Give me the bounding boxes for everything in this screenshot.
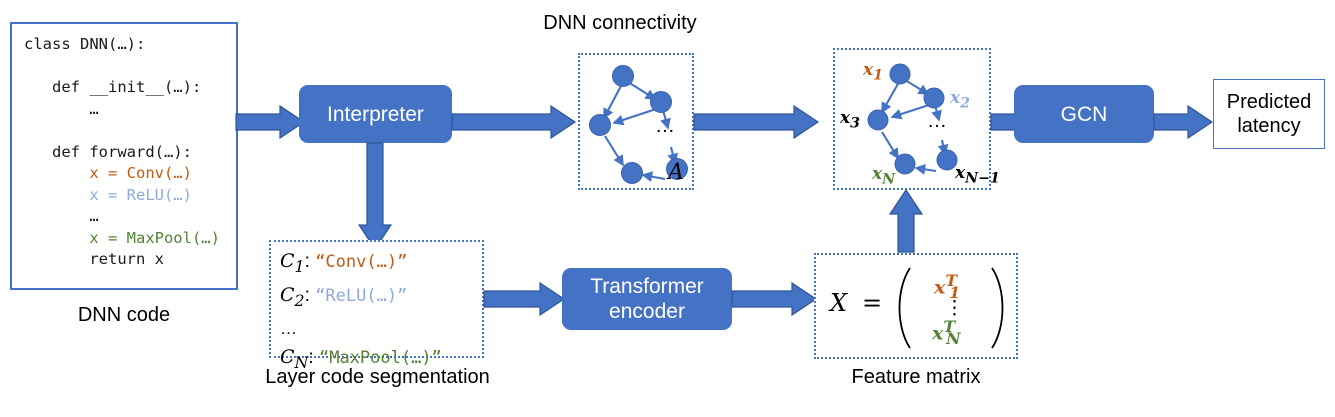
predicted-latency-line1: Predicted <box>1227 90 1312 114</box>
feature-label-x3: x3 <box>840 108 860 131</box>
arrow-segmentation-to-transformer <box>484 281 568 317</box>
connectivity-ellipsis: … <box>655 115 676 138</box>
code-line-1: class DNN(…): <box>24 35 145 53</box>
segmentation-rows: C1: “Conv(…)” C2: “ReLU(…)” … CN: “MaxPo… <box>280 247 442 376</box>
code-line-conv: x = Conv(…) <box>24 164 192 182</box>
code-line-4: def forward(…): <box>24 143 192 161</box>
arrow-gcn-to-prediction <box>1154 104 1214 140</box>
segmentation-value-n: “MaxPool(…)” <box>319 348 442 368</box>
segmentation-key-n: CN <box>280 346 308 368</box>
feature-node-x1 <box>890 64 910 84</box>
feature-label-x1: x1 <box>863 60 883 83</box>
predicted-latency-box: Predicted latency <box>1213 79 1325 149</box>
arrow-interpreter-to-segmentation <box>357 143 393 253</box>
arrow-transformer-to-featurematrix <box>732 281 820 317</box>
arrow-featurematrix-to-featuregraph <box>888 190 924 254</box>
code-line-return: return x <box>24 250 164 268</box>
feature-matrix-caption: Feature matrix <box>814 366 1018 389</box>
segmentation-box: C1: “Conv(…)” C2: “ReLU(…)” … CN: “MaxPo… <box>269 240 484 358</box>
predicted-latency-line2: latency <box>1237 114 1300 138</box>
dnn-code-text: class DNN(…): def __init__(…): … def for… <box>24 34 220 271</box>
diagram-canvas: class DNN(…): def __init__(…): … def for… <box>0 0 1335 417</box>
feature-matrix-symbol: X <box>830 289 847 317</box>
feature-node-xn <box>895 154 915 174</box>
code-line-2: def __init__(…): <box>24 78 201 96</box>
code-line-relu: x = ReLU(…) <box>24 186 192 204</box>
interpreter-box[interactable]: Interpreter <box>299 85 452 143</box>
transformer-label-line2: encoder <box>609 299 685 324</box>
transformer-encoder-box[interactable]: Transformer encoder <box>562 268 732 330</box>
feature-graph-ellipsis: … <box>927 110 948 133</box>
segmentation-row-ellipsis: … <box>280 315 442 343</box>
interpreter-label: Interpreter <box>327 102 424 127</box>
segmentation-key-1: C1 <box>280 250 305 272</box>
connectivity-title: DNN connectivity <box>470 12 770 35</box>
dnn-code-box: class DNN(…): def __init__(…): … def for… <box>10 22 238 290</box>
feature-node-x2 <box>924 88 944 108</box>
dnn-code-caption: DNN code <box>10 304 238 327</box>
feature-node-xn1 <box>937 150 957 170</box>
graph-node-3 <box>590 115 611 136</box>
feature-graph-box: x1 x2 x3 xN−1 xN … <box>833 48 991 190</box>
transformer-label-line1: Transformer <box>590 274 704 299</box>
segmentation-value-2: “ReLU(…)” <box>315 286 407 306</box>
connectivity-box: … A <box>578 53 694 190</box>
feature-matrix-box: X = xT1 ⋮ xTN <box>814 253 1018 359</box>
segmentation-key-2: C2 <box>280 284 305 306</box>
feature-label-x2: x2 <box>950 88 970 111</box>
feature-matrix-row-bottom: xTN <box>932 317 961 348</box>
segmentation-caption: Layer code segmentation <box>245 366 510 389</box>
arrow-code-to-interpreter <box>236 104 308 140</box>
gcn-label: GCN <box>1061 102 1108 127</box>
code-line-3: … <box>24 100 99 118</box>
segmentation-value-1: “Conv(…)” <box>315 252 407 272</box>
code-line-blank-1 <box>24 57 33 75</box>
code-line-maxpool: x = MaxPool(…) <box>24 229 220 247</box>
feature-label-xn-1: xN−1 <box>955 163 1000 186</box>
arrow-connectivity-to-featuregraph <box>694 104 822 140</box>
gcn-box[interactable]: GCN <box>1014 85 1154 143</box>
code-line-blank-2 <box>24 121 33 139</box>
code-line-ellipsis: … <box>24 207 99 225</box>
graph-node-2 <box>651 92 672 113</box>
graph-node-1 <box>613 66 634 87</box>
arrow-interpreter-to-connectivity <box>452 104 579 140</box>
adjacency-matrix-label: A <box>668 160 684 185</box>
feature-label-xn: xN <box>872 164 895 187</box>
segmentation-colon-1: : <box>305 251 316 272</box>
feature-node-x3 <box>868 110 888 130</box>
segmentation-row-2: C2: “ReLU(…)” <box>280 281 442 315</box>
graph-node-5 <box>622 163 643 184</box>
feature-matrix-equals: = <box>862 289 882 317</box>
segmentation-row-1: C1: “Conv(…)” <box>280 247 442 281</box>
segmentation-colon-n: : <box>308 347 319 368</box>
segmentation-colon-2: : <box>305 285 316 306</box>
